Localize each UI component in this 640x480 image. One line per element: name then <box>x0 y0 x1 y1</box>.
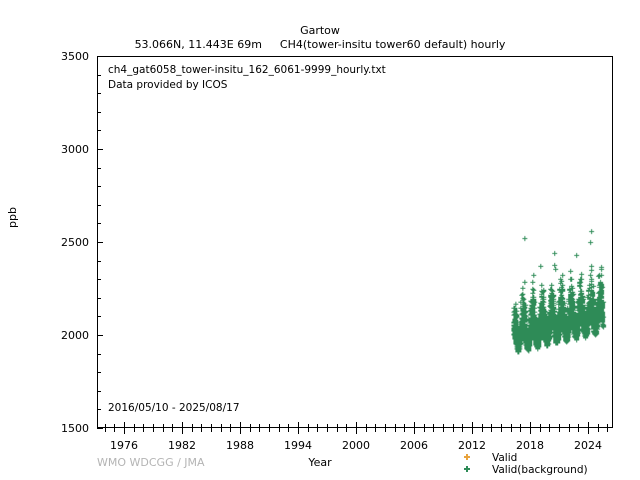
legend-item-valid-background[interactable]: Valid(background) <box>462 464 588 476</box>
x-tick-major-bottom <box>240 428 241 434</box>
y-tick-major <box>97 242 103 243</box>
x-tick-minor-bottom <box>453 428 454 432</box>
x-tick-minor-bottom <box>501 428 502 432</box>
y-tick-minor <box>97 391 101 392</box>
x-tick-label: 1982 <box>152 440 212 451</box>
x-tick-label: 1988 <box>210 440 270 451</box>
x-tick-minor-bottom <box>598 428 599 432</box>
y-tick-minor <box>97 298 101 299</box>
x-tick-minor-bottom <box>172 428 173 432</box>
legend-label-valid: Valid <box>492 452 517 464</box>
y-tick-major <box>97 428 103 429</box>
legend-label-valid-background: Valid(background) <box>492 464 588 476</box>
y-tick-minor <box>97 112 101 113</box>
y-tick-minor <box>97 279 101 280</box>
x-tick-minor-bottom <box>462 428 463 432</box>
x-tick-major-bottom <box>530 428 531 434</box>
y-tick-minor <box>97 186 101 187</box>
y-tick-major <box>97 56 103 57</box>
x-tick-minor-bottom <box>346 428 347 432</box>
x-tick-minor-bottom <box>433 428 434 432</box>
y-tick-label: 1500 <box>41 423 89 434</box>
chart-subtitle: 53.066N, 11.443E 69mCH4(tower-insitu tow… <box>0 38 640 51</box>
y-tick-minor <box>97 93 101 94</box>
plus-marker-icon-valid-background <box>462 464 474 476</box>
x-tick-minor-bottom <box>230 428 231 432</box>
x-tick-minor-bottom <box>269 428 270 432</box>
x-tick-major-bottom <box>298 428 299 434</box>
x-tick-major-bottom <box>356 428 357 434</box>
x-tick-label: 2012 <box>442 440 502 451</box>
x-tick-minor-bottom <box>143 428 144 432</box>
x-tick-minor-bottom <box>337 428 338 432</box>
y-tick-minor <box>97 261 101 262</box>
x-tick-minor-bottom <box>395 428 396 432</box>
x-tick-minor-bottom <box>211 428 212 432</box>
source-filename: ch4_gat6058_tower-insitu_162_6061-9999_h… <box>108 63 386 78</box>
x-tick-minor-bottom <box>250 428 251 432</box>
y-tick-minor <box>97 372 101 373</box>
y-tick-label: 3500 <box>41 51 89 62</box>
data-provider: Data provided by ICOS <box>108 78 386 93</box>
station-coordinates: 53.066N, 11.443E 69m <box>135 38 262 51</box>
x-tick-minor-bottom <box>607 428 608 432</box>
x-tick-minor-bottom <box>192 428 193 432</box>
scatter-plot-canvas <box>98 57 612 427</box>
x-tick-major-bottom <box>588 428 589 434</box>
x-tick-minor-bottom <box>511 428 512 432</box>
y-tick-minor <box>97 223 101 224</box>
x-tick-minor-bottom <box>375 428 376 432</box>
legend: Valid Valid(background) <box>462 452 588 476</box>
y-tick-minor <box>97 316 101 317</box>
x-tick-minor-bottom <box>134 428 135 432</box>
x-tick-minor-bottom <box>153 428 154 432</box>
x-tick-minor-bottom <box>549 428 550 432</box>
x-tick-minor-bottom <box>308 428 309 432</box>
x-tick-label: 2018 <box>500 440 560 451</box>
x-tick-minor-bottom <box>259 428 260 432</box>
x-tick-minor-bottom <box>569 428 570 432</box>
y-tick-minor <box>97 354 101 355</box>
x-tick-minor-bottom <box>385 428 386 432</box>
y-axis-title: ppb <box>6 207 19 228</box>
y-tick-minor <box>97 130 101 131</box>
parameter-label: CH4(tower-insitu tower60 default) hourly <box>280 38 506 51</box>
x-tick-minor-bottom <box>279 428 280 432</box>
x-tick-label: 2006 <box>384 440 444 451</box>
y-tick-major <box>97 335 103 336</box>
y-tick-label: 2500 <box>41 237 89 248</box>
x-tick-minor-bottom <box>105 428 106 432</box>
x-tick-label: 2000 <box>326 440 386 451</box>
page-title: Gartow <box>0 24 640 37</box>
x-tick-minor-bottom <box>540 428 541 432</box>
x-tick-label: 1976 <box>94 440 154 451</box>
x-tick-major-bottom <box>414 428 415 434</box>
y-tick-label: 2000 <box>41 330 89 341</box>
x-tick-major-bottom <box>124 428 125 434</box>
y-tick-major <box>97 149 103 150</box>
x-tick-label: 2024 <box>558 440 618 451</box>
x-tick-minor-bottom <box>424 428 425 432</box>
y-tick-minor <box>97 168 101 169</box>
y-tick-label: 3000 <box>41 144 89 155</box>
x-tick-minor-bottom <box>578 428 579 432</box>
x-tick-minor-bottom <box>482 428 483 432</box>
date-range-label: 2016/05/10 - 2025/08/17 <box>108 402 240 414</box>
x-tick-minor-bottom <box>404 428 405 432</box>
x-tick-major-bottom <box>182 428 183 434</box>
y-tick-minor <box>97 205 101 206</box>
x-tick-minor-bottom <box>114 428 115 432</box>
x-tick-minor-bottom <box>288 428 289 432</box>
legend-item-valid[interactable]: Valid <box>462 452 588 464</box>
file-annotation: ch4_gat6058_tower-insitu_162_6061-9999_h… <box>108 63 386 93</box>
x-tick-minor-bottom <box>491 428 492 432</box>
x-tick-minor-bottom <box>520 428 521 432</box>
x-tick-minor-bottom <box>366 428 367 432</box>
x-tick-label: 1994 <box>268 440 328 451</box>
watermark: WMO WDCGG / JMA <box>97 456 205 469</box>
y-tick-minor <box>97 409 101 410</box>
plus-marker-icon-valid <box>462 452 474 464</box>
y-tick-minor <box>97 75 101 76</box>
x-tick-minor-bottom <box>201 428 202 432</box>
x-tick-minor-bottom <box>443 428 444 432</box>
x-tick-minor-bottom <box>221 428 222 432</box>
x-tick-major-bottom <box>472 428 473 434</box>
x-tick-minor-bottom <box>317 428 318 432</box>
plot-area: ch4_gat6058_tower-insitu_162_6061-9999_h… <box>97 56 613 428</box>
x-tick-minor-bottom <box>559 428 560 432</box>
x-tick-minor-bottom <box>327 428 328 432</box>
x-tick-minor-bottom <box>163 428 164 432</box>
